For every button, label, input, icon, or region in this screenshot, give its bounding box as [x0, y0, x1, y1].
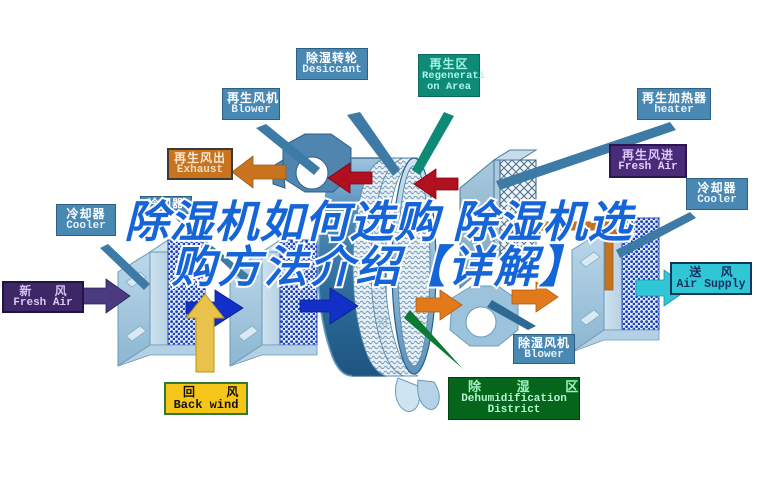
label-dehum-blower-en: Blower [518, 350, 570, 362]
label-cooler-mid[interactable]: 冷却器 [140, 196, 192, 214]
label-cooler-right[interactable]: 冷却器 Cooler [686, 178, 748, 210]
label-exhaust[interactable]: 再生风出 Exhaust [167, 148, 233, 180]
label-regen-heater-en: heater [642, 105, 706, 117]
label-back-wind-cn: 回 风 [169, 386, 243, 399]
label-regen-blower[interactable]: 再生风机 Blower [222, 88, 280, 120]
watermark-text: xt [378, 314, 389, 329]
label-regen-area-cn: 再生区 [422, 58, 476, 71]
label-cooler-left-en: Cooler [61, 221, 111, 233]
label-regen-blower-cn: 再生风机 [227, 92, 275, 105]
label-regen-area[interactable]: 再生区 Regenerati on Area [418, 54, 480, 97]
label-regen-blower-en: Blower [227, 105, 275, 117]
heater-coil [460, 150, 536, 288]
label-cooler-left[interactable]: 冷却器 Cooler [56, 204, 116, 236]
label-regen-area-en: Regenerati on Area [422, 71, 476, 93]
label-regen-fresh-air-en: Fresh Air [615, 162, 681, 174]
label-cooler-right-cn: 冷却器 [691, 182, 743, 195]
label-cooler-mid-cn: 冷却器 [144, 199, 188, 211]
schematic-illustration: xt [0, 0, 757, 488]
label-regen-fresh-air[interactable]: 再生风进 Fresh Air [609, 144, 687, 178]
label-dehum-district-en2: District [452, 405, 576, 417]
label-fresh-air-left-cn: 新 风 [7, 285, 79, 298]
label-desiccant-wheel-en: Desiccant [301, 65, 363, 77]
diagram-canvas: xt [0, 0, 757, 488]
label-fresh-air-left[interactable]: 新 风 Fresh Air [2, 281, 84, 313]
label-cooler-left-cn: 冷却器 [61, 208, 111, 221]
desiccant-rotor [318, 158, 439, 412]
label-dehum-blower-cn: 除湿风机 [518, 337, 570, 350]
label-regen-heater[interactable]: 再生加热器 heater [637, 88, 711, 120]
label-air-supply-cn: 送 风 [675, 266, 747, 279]
label-desiccant-wheel-cn: 除湿转轮 [301, 52, 363, 65]
label-desiccant-wheel[interactable]: 除湿转轮 Desiccant [296, 48, 368, 80]
label-back-wind-en: Back wind [169, 399, 243, 412]
label-fresh-air-left-en: Fresh Air [7, 298, 79, 310]
label-back-wind[interactable]: 回 风 Back wind [164, 382, 248, 415]
label-cooler-right-en: Cooler [691, 195, 743, 207]
label-exhaust-en: Exhaust [172, 165, 228, 177]
label-exhaust-cn: 再生风出 [172, 152, 228, 165]
label-dehum-blower[interactable]: 除湿风机 Blower [513, 334, 575, 364]
label-dehum-district[interactable]: 除 湿 区 Dehumidification District [448, 377, 580, 420]
label-regen-fresh-air-cn: 再生风进 [615, 149, 681, 162]
label-dehum-district-cn: 除 湿 区 [452, 380, 576, 394]
flow-dehum-out-2 [512, 282, 558, 312]
label-regen-heater-cn: 再生加热器 [642, 92, 706, 105]
label-air-supply[interactable]: 送 风 Air Supply [670, 262, 752, 295]
label-air-supply-en: Air Supply [675, 279, 747, 291]
